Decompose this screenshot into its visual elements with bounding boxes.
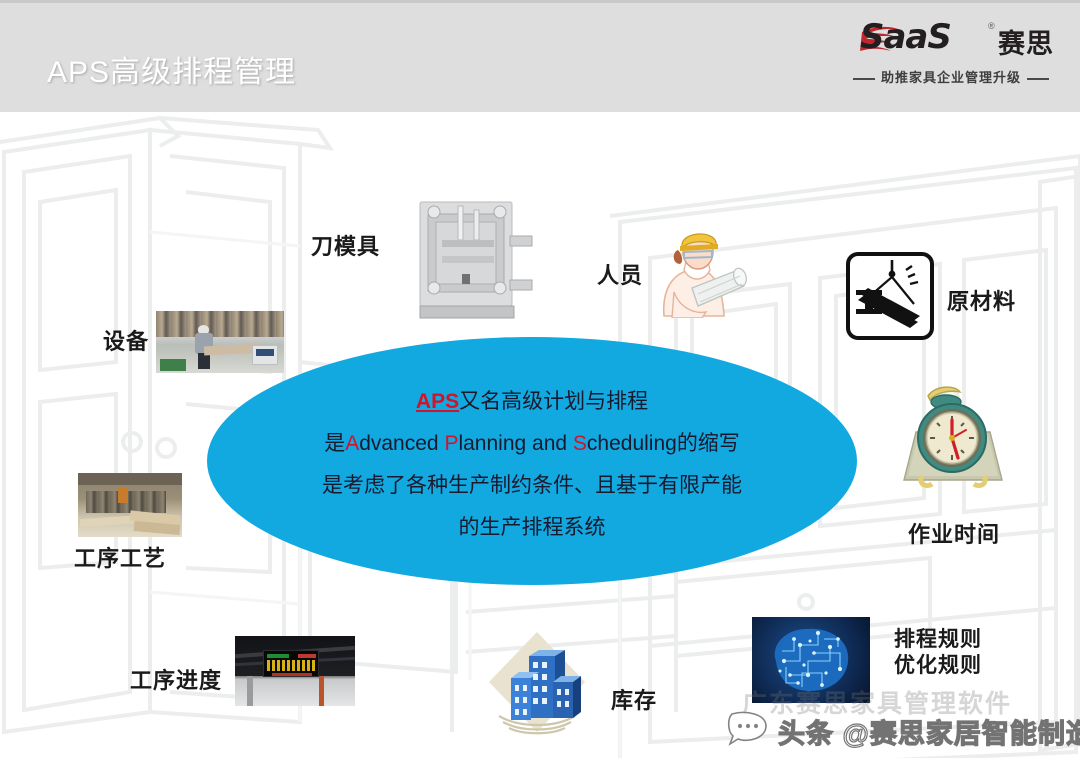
chat-bubble-icon (726, 710, 772, 748)
orange-column (319, 676, 324, 706)
node-label-rules: 排程规则 优化规则 (894, 627, 982, 679)
led-display-board-photo (235, 636, 355, 706)
node-label-process: 工序工艺 (74, 541, 166, 573)
led-panel (263, 650, 319, 677)
definition-line-2: 是Advanced Planning and Scheduling的缩写 (207, 423, 857, 465)
definition-line-4: 的生产排程系统 (207, 507, 857, 549)
engineer-blueprint-icon (650, 228, 748, 318)
company-logo: SaaS ® 赛思 助推家具企业管理升级 (838, 19, 1064, 99)
control-panel (252, 345, 278, 365)
logo-chinese-text: 赛思 (998, 22, 1054, 61)
aps-definition-text: APS又名高级计划与排程 是Advanced Planning and Sche… (207, 381, 857, 549)
factory-machine-photo (156, 311, 284, 373)
rules-label-line1: 排程规则 (894, 627, 982, 653)
slide-header: APS高级排程管理 SaaS ® 赛思 助推家具企业管理升级 (0, 0, 1080, 112)
definition-line-3: 是考虑了各种生产制约条件、且基于有限产能 (207, 465, 857, 507)
tagline-dash-left (853, 78, 875, 80)
steel-column (247, 676, 253, 706)
node-label-equipment: 设备 (103, 324, 149, 356)
logo-wordmark: SaaS ® 赛思 (838, 19, 1064, 65)
woodworking-workshop-photo (78, 473, 182, 537)
node-label-progress: 工序进度 (130, 663, 222, 695)
node-label-raw-material: 原材料 (947, 284, 1016, 316)
watermark-text: 头条 @赛思家居智能制造 (778, 712, 1080, 751)
ceiling-beam (78, 473, 182, 485)
crane-steel-beam-icon (846, 252, 934, 340)
rules-label-line2: 优化规则 (894, 653, 982, 679)
logo-latin-text: SaaS (860, 17, 951, 57)
logo-tagline: 助推家具企业管理升级 (881, 70, 1021, 85)
tagline-dash-right (1027, 78, 1049, 80)
node-label-work-time: 作业时间 (908, 517, 1000, 549)
slide-canvas: APS高级排程管理 SaaS ® 赛思 助推家具企业管理升级 APS又名高级计划… (0, 0, 1080, 758)
node-label-inventory: 库存 (611, 683, 657, 715)
node-label-personnel: 人员 (597, 258, 643, 290)
definition-line-1: APS又名高级计划与排程 (207, 381, 857, 423)
logo-tagline-row: 助推家具企业管理升级 (838, 67, 1064, 86)
injection-mold-photo (404, 196, 534, 322)
buildings-icon (485, 630, 589, 736)
node-label-tooling: 刀模具 (311, 229, 380, 261)
green-crate (160, 359, 186, 371)
logo-registered-mark: ® (988, 21, 995, 31)
machine-row (156, 311, 284, 337)
alarm-clock-icon (900, 380, 1006, 492)
aps-definition-ellipse: APS又名高级计划与排程 是Advanced Planning and Sche… (207, 337, 857, 585)
machine-arm (118, 487, 128, 503)
page-title: APS高级排程管理 (47, 47, 296, 91)
watermark: 头条 @赛思家居智能制造 (726, 708, 1066, 752)
